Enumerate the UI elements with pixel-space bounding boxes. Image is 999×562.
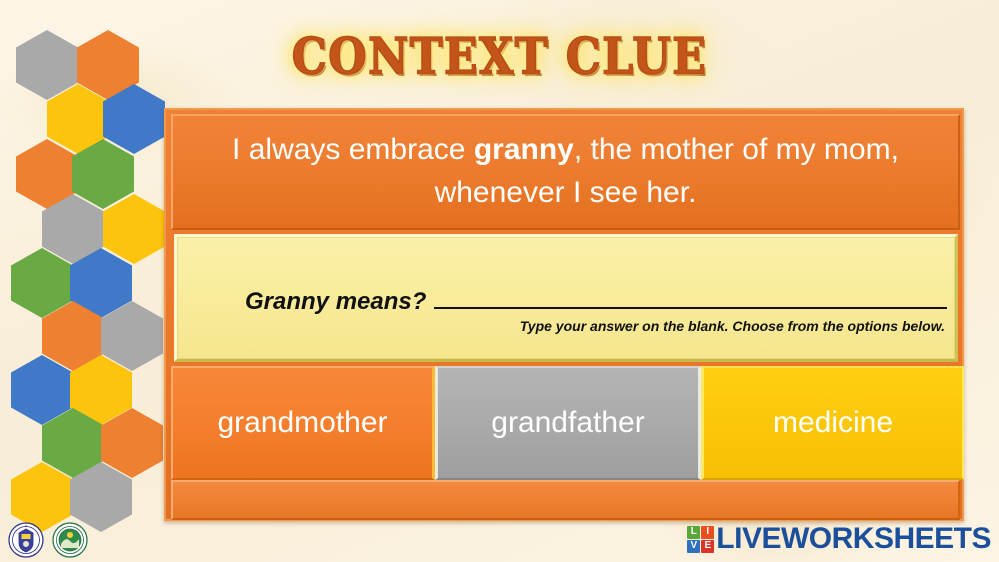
answer-hint-text: Type your answer on the blank. Choose fr… (245, 318, 947, 334)
sentence-box: I always embrace granny, the mother of m… (171, 114, 960, 230)
hexagon-tile (70, 248, 132, 318)
institution-seals (8, 522, 88, 558)
hexagon-tile (11, 248, 73, 318)
sentence-before: I always embrace (232, 133, 474, 166)
answer-input[interactable] (434, 283, 947, 309)
hexagon-tile (70, 355, 132, 425)
hexagon-tile (72, 139, 134, 209)
liveworksheets-tiles-icon: L I V E (687, 526, 714, 553)
answer-inner: Granny means? Type your answer on the bl… (245, 283, 947, 334)
hexagon-tile (47, 84, 109, 154)
exercise-panel: I always embrace granny, the mother of m… (164, 108, 964, 521)
hexagon-tile (103, 194, 165, 264)
hexagon-tile (42, 408, 104, 478)
answer-row: Granny means? (245, 283, 947, 316)
page-title: CONTEXT CLUE (0, 29, 999, 86)
sentence-text: I always embrace granny, the mother of m… (195, 129, 936, 214)
department-of-education-seal-icon (8, 522, 44, 558)
worksheet-canvas: CONTEXT CLUE I always embrace granny, th… (0, 0, 999, 562)
option-button-medicine[interactable]: medicine (701, 366, 964, 480)
panel-footer-strip (171, 480, 960, 520)
lws-tile-i: I (701, 526, 714, 539)
hexagon-tile (42, 194, 104, 264)
lws-tile-l: L (687, 526, 700, 539)
option-button-grandmother[interactable]: grandmother (171, 366, 435, 480)
sentence-keyword: granny (474, 133, 574, 166)
answer-box: Granny means? Type your answer on the bl… (174, 234, 958, 362)
liveworksheets-wordmark: LIVEWORKSHEETS (716, 522, 991, 556)
question-label: Granny means? (245, 288, 426, 316)
hexagon-tile (11, 355, 73, 425)
option-label: medicine (773, 406, 893, 440)
hexagon-tile (101, 301, 163, 371)
hexagon-tile (101, 408, 163, 478)
hexagon-tile (16, 139, 78, 209)
hexagon-tile (103, 84, 165, 154)
options-row: grandmother grandfather medicine (171, 366, 964, 480)
school-division-seal-icon (52, 522, 88, 558)
lws-tile-e: E (701, 540, 714, 553)
hexagon-tile (42, 301, 104, 371)
option-button-grandfather[interactable]: grandfather (435, 366, 701, 480)
liveworksheets-logo[interactable]: L I V E LIVEWORKSHEETS (687, 522, 991, 556)
lws-tile-v: V (687, 540, 700, 553)
option-label: grandmother (217, 406, 387, 440)
option-label: grandfather (491, 406, 644, 440)
